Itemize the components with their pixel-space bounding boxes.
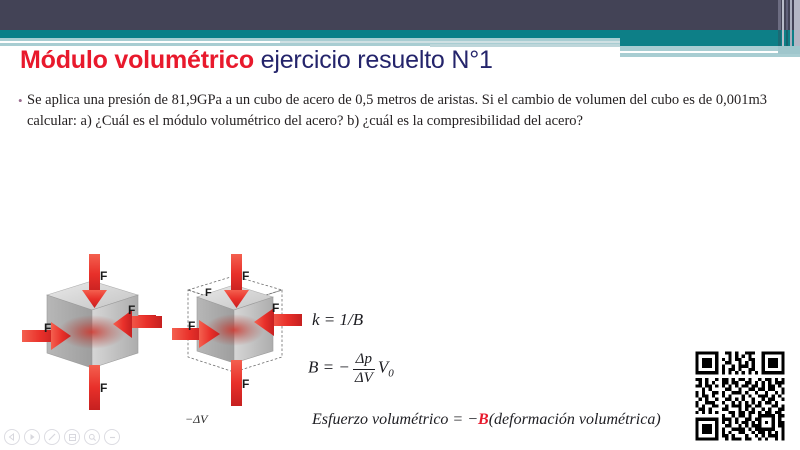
equation-compressibility: k = 1/B xyxy=(312,310,363,330)
page-title: Módulo volumétrico ejercicio resuelto N°… xyxy=(20,46,493,75)
equation-bulk-equals: = − xyxy=(323,357,350,376)
qr-code[interactable] xyxy=(692,348,788,444)
header-notch-light-2 xyxy=(620,53,800,57)
figure-cube-compressed: F F F F F xyxy=(172,252,302,412)
more-options-button[interactable] xyxy=(104,429,120,445)
bullet-marker: • xyxy=(18,90,27,111)
equation-stress-right: (deformación volumétrica) xyxy=(489,411,661,428)
header-ribbon-5 xyxy=(794,0,800,46)
qr-code-svg xyxy=(692,348,788,444)
cube-compressed-svg: F F F F F xyxy=(172,252,302,412)
force-label-right: F xyxy=(128,303,135,317)
force-label-bottom: F xyxy=(242,377,249,391)
page-title-highlight: Módulo volumétrico xyxy=(20,46,254,74)
equation-bulk-trailing-sub: 0 xyxy=(388,367,394,379)
equation-bulk-modulus: B = −ΔpΔVV0 xyxy=(308,352,394,387)
header-ribbon-teal-3 xyxy=(778,46,800,54)
minus-circle-icon xyxy=(108,433,117,442)
cube-uncompressed-svg: F F F F xyxy=(18,252,168,412)
triangle-left-icon xyxy=(8,433,16,441)
header-dark-band xyxy=(0,0,800,30)
header-notch-teal xyxy=(620,30,800,46)
force-label-top: F xyxy=(100,269,107,283)
header-ribbon-teal-2 xyxy=(786,30,788,46)
header-ribbon-2 xyxy=(782,0,784,46)
pen-icon xyxy=(47,432,57,442)
force-label-right: F xyxy=(272,301,279,315)
menu-button[interactable] xyxy=(64,429,80,445)
force-label-hidden: F xyxy=(205,287,212,299)
header-accent-line-1 xyxy=(280,41,620,43)
equation-stress-b: B xyxy=(478,411,489,428)
zoom-button[interactable] xyxy=(84,429,100,445)
body-bullet-list: •Se aplica una presión de 81,9GPa a un c… xyxy=(18,90,780,132)
previous-slide-button[interactable] xyxy=(4,429,20,445)
force-label-left: F xyxy=(188,319,195,333)
pen-annotation-button[interactable] xyxy=(44,429,60,445)
equation-bulk-denominator: ΔV xyxy=(353,371,375,387)
next-slide-button[interactable] xyxy=(24,429,40,445)
magnifier-icon xyxy=(88,433,97,442)
equation-bulk-fraction: ΔpΔV xyxy=(353,352,375,387)
presentation-slide: Módulo volumétrico ejercicio resuelto N°… xyxy=(0,0,800,450)
force-label-top: F xyxy=(242,269,249,283)
equation-bulk-numerator: Δp xyxy=(353,352,375,368)
page-title-rest: ejercicio resuelto N°1 xyxy=(254,46,493,74)
header-ribbon-teal-1 xyxy=(778,30,781,46)
equation-stress-left: Esfuerzo volumétrico = − xyxy=(312,411,478,428)
bullet-text: Se aplica una presión de 81,9GPa a un cu… xyxy=(27,90,767,132)
figure-cube-uncompressed: F F F F xyxy=(18,252,168,412)
header-ribbon-4 xyxy=(790,0,792,46)
force-label-bottom: F xyxy=(100,381,107,395)
slideshow-toolbar[interactable] xyxy=(4,429,120,445)
triangle-right-icon xyxy=(28,433,36,441)
equation-bulk-trailing: V xyxy=(378,357,388,376)
figure-caption-delta-v: −ΔV xyxy=(185,412,207,427)
grid-menu-icon xyxy=(68,433,77,442)
force-label-left: F xyxy=(44,321,51,335)
equation-bulk-lhs: B xyxy=(308,357,318,376)
equation-stress-relation: Esfuerzo volumétrico = −B(deformación vo… xyxy=(312,411,661,429)
